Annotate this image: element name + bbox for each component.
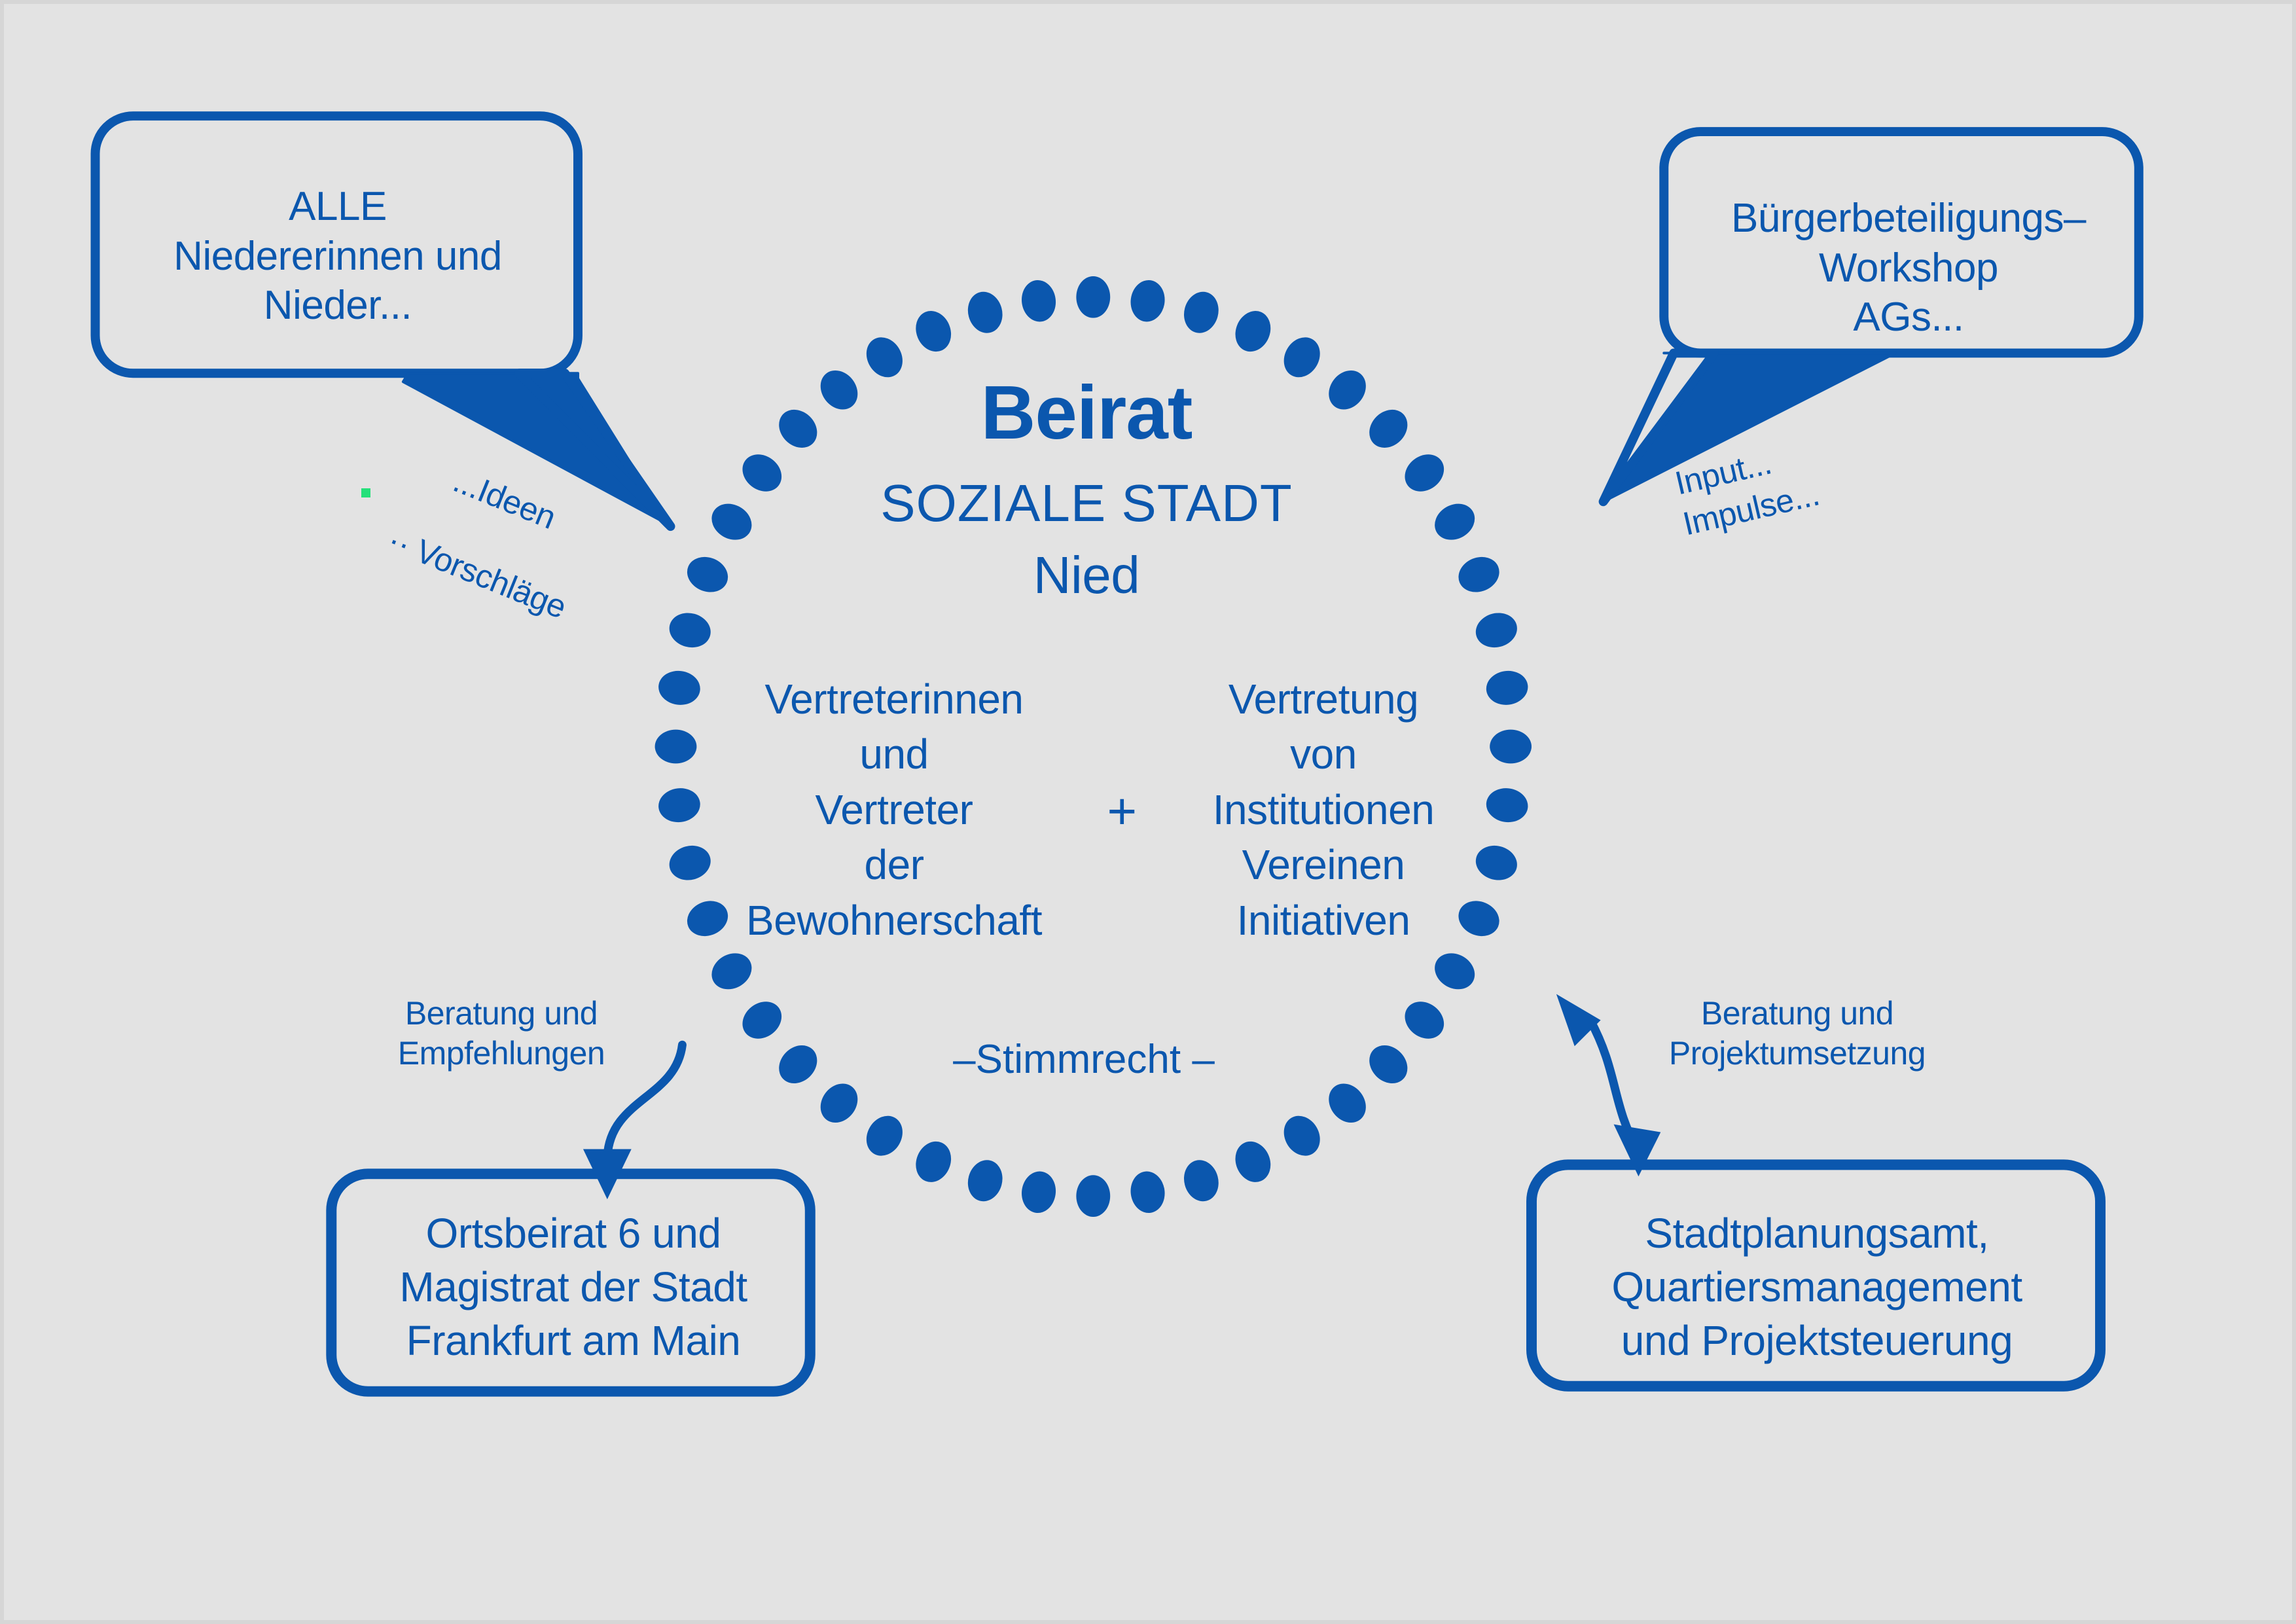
circle-column-left: Vertreterinnen und Vertreter der Bewohne… <box>711 672 1077 948</box>
ring-dot <box>735 994 789 1047</box>
ring-dot <box>1428 497 1481 547</box>
ring-dot <box>1179 1156 1223 1205</box>
ring-dot <box>666 609 715 652</box>
annotation-beratung-projektumsetzung: Beratung und Projektumsetzung <box>1640 994 1954 1074</box>
ring-dot <box>1361 402 1415 456</box>
ring-dot <box>656 668 702 708</box>
circle-column-right: Vertretung von Institutionen Vereinen In… <box>1160 672 1487 948</box>
beirat-subtitle-line2: Nied <box>825 546 1348 605</box>
ring-dot <box>1397 994 1451 1047</box>
box-stadtplanungsamt-label: Stadtplanungsamt, Quartiersmanagement un… <box>1535 1207 2098 1368</box>
ring-dot <box>1472 609 1521 652</box>
ring-dot <box>1019 1169 1058 1215</box>
ring-dot <box>656 785 702 825</box>
ring-dot <box>1397 447 1451 499</box>
ring-dot <box>1484 668 1530 708</box>
ring-dot <box>1019 278 1058 324</box>
ring-dot <box>1361 1038 1415 1091</box>
ring-dot <box>682 551 734 598</box>
ring-dot <box>1484 785 1530 825</box>
ring-dot <box>655 730 697 764</box>
ring-dot <box>1321 1076 1374 1130</box>
ring-dot <box>1453 551 1505 598</box>
ring-dot <box>1128 278 1168 324</box>
ring-dot <box>910 306 957 357</box>
ring-dot <box>1229 306 1276 357</box>
annotation-beratung-empfehlungen: Beratung und Empfehlungen <box>370 994 632 1074</box>
ring-dot <box>859 1110 910 1163</box>
diagram-stage: ALLE Niedererinnen und Nieder... Bürgerb… <box>0 0 2296 1624</box>
ring-dot <box>1128 1169 1168 1215</box>
ring-dot <box>1490 730 1532 764</box>
ring-dot <box>910 1136 957 1188</box>
ring-dot <box>1076 276 1110 318</box>
ring-dot <box>963 288 1007 337</box>
green-marker-dot <box>361 488 370 497</box>
beirat-title: Beirat <box>825 370 1348 456</box>
ring-dot <box>771 1038 825 1091</box>
ring-dot <box>1179 288 1223 337</box>
ring-dot <box>1076 1175 1110 1217</box>
circle-stimmrecht-note: –Stimmrecht – <box>920 1037 1247 1082</box>
ring-dot <box>705 946 758 996</box>
ring-dot <box>963 1156 1007 1205</box>
ring-dot <box>735 447 789 499</box>
ring-dot <box>1428 946 1481 996</box>
circle-plus-symbol: + <box>1083 783 1161 840</box>
speech-bubble-left-label: ALLE Niedererinnen und Nieder... <box>109 182 567 331</box>
ring-dot <box>771 402 825 456</box>
ring-dot <box>666 841 715 884</box>
ring-dot <box>705 497 758 547</box>
ring-dot <box>1229 1136 1276 1188</box>
box-ortsbeirat-label: Ortsbeirat 6 und Magistrat der Stadt Fra… <box>344 1207 802 1368</box>
ring-dot <box>1277 1110 1327 1163</box>
speech-bubble-right-label: Bürgerbeteiligungs– Workshop AGs... <box>1679 194 2138 342</box>
ring-dot <box>813 1076 865 1130</box>
beirat-subtitle-line1: SOZIALE STADT <box>825 474 1348 533</box>
